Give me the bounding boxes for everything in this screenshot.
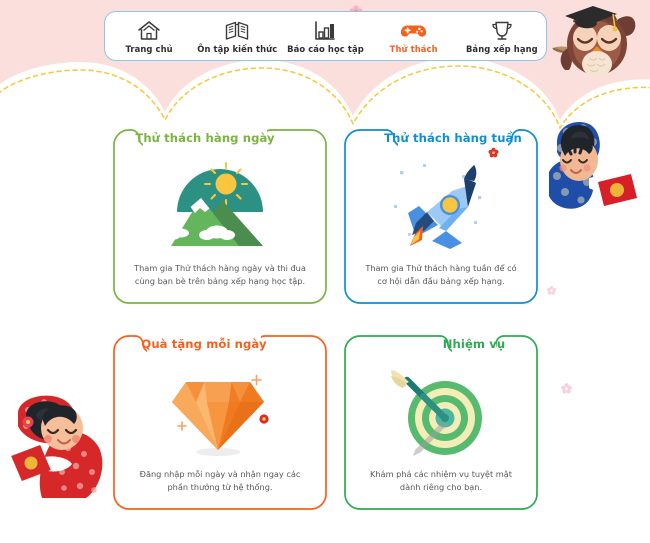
- sun-mountain-illustration: [113, 157, 327, 255]
- card-daily-gift[interactable]: Quà tặng mỗi ngày: [113, 335, 327, 510]
- flower-deco-right: [560, 382, 573, 395]
- card-description: Tham gia Thử thách hàng tuần để có cơ hộ…: [362, 262, 520, 289]
- nav-item-bang-xep-hang[interactable]: Bảng xếp hạng: [460, 19, 544, 54]
- nav-label: Bảng xếp hạng: [466, 44, 538, 54]
- card-description: Khám phá các nhiệm vụ tuyệt mật dành riê…: [362, 468, 520, 495]
- nav-label: Trang chủ: [125, 44, 172, 54]
- diamond-illustration: [113, 363, 327, 461]
- card-title-wrap: Thử thách hàng ngày: [143, 127, 267, 149]
- nav-item-trang-chu[interactable]: Trang chủ: [107, 19, 191, 54]
- trophy-icon: [490, 19, 514, 41]
- card-title-wrap: Nhiệm vụ: [452, 333, 496, 355]
- card-description: Đăng nhập mỗi ngày và nhận ngay các phần…: [131, 468, 309, 495]
- card-title: Nhiệm vụ: [443, 337, 506, 351]
- card-title: Quà tặng mỗi ngày: [141, 337, 266, 351]
- card-title: Thử thách hàng ngày: [135, 131, 274, 145]
- card-description: Tham gia Thử thách hàng ngày và thi đua …: [131, 262, 309, 289]
- home-icon: [137, 19, 161, 41]
- nav-label: Ôn tập kiến thức: [197, 44, 277, 54]
- nav-item-on-tap-kien-thuc[interactable]: Ôn tập kiến thức: [195, 19, 279, 54]
- main-navigation: Trang chủ Ôn tập kiến thức: [104, 11, 547, 61]
- boy-red-envelope-mascot: [549, 116, 650, 224]
- nav-label: Báo cáo học tập: [287, 44, 364, 54]
- nav-item-thu-thach[interactable]: Thử thách: [372, 19, 456, 54]
- flower-deco-card2: [546, 285, 557, 296]
- nav-item-bao-cao-hoc-tap[interactable]: Báo cáo học tập: [283, 19, 367, 54]
- card-daily-challenge[interactable]: Thử thách hàng ngày: [113, 129, 327, 304]
- card-title-wrap: Thử thách hàng tuần: [398, 127, 508, 149]
- card-weekly-challenge[interactable]: Thử thách hàng tuần: [344, 129, 538, 304]
- card-title-wrap: Quà tặng mỗi ngày: [147, 333, 261, 355]
- gamepad-icon: [400, 19, 427, 41]
- rocket-illustration: [344, 159, 538, 255]
- challenge-page: Trang chủ Ôn tập kiến thức: [0, 0, 650, 543]
- card-title: Thử thách hàng tuần: [384, 131, 522, 145]
- owl-graduate-mascot: [551, 2, 647, 80]
- book-icon: [224, 19, 250, 41]
- bar-chart-icon: [313, 19, 337, 41]
- girl-ao-dai-mascot: [0, 392, 110, 504]
- target-dart-illustration: [344, 365, 538, 461]
- nav-label: Thử thách: [390, 44, 438, 54]
- card-missions[interactable]: Nhiệm vụ Khám phá các nhiệm vụ tuyệt mật…: [344, 335, 538, 510]
